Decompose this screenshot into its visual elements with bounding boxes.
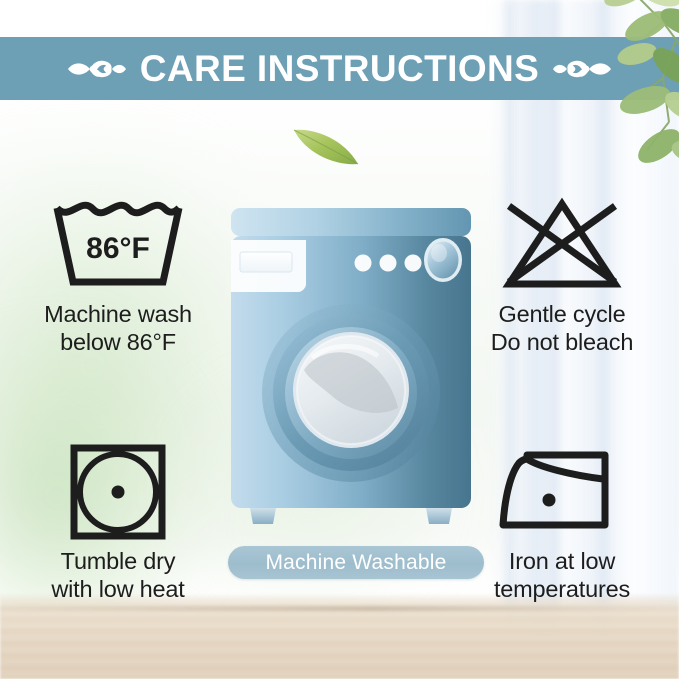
table-wood-grain xyxy=(0,611,679,679)
header-banner: CARE INSTRUCTIONS xyxy=(0,37,679,100)
fleur-de-lis-icon-left xyxy=(60,44,130,94)
care-symbol-tumble-dry: Tumble dry with low heat xyxy=(8,443,228,603)
status-badge-machine-washable: Machine Washable xyxy=(228,546,484,579)
caption-line-2: with low heat xyxy=(8,575,228,603)
care-symbol-iron: Iron at low temperatures xyxy=(452,443,672,603)
caption-line-1: Gentle cycle xyxy=(452,300,672,328)
page-title: CARE INSTRUCTIONS xyxy=(140,48,539,90)
caption-line-1: Machine wash xyxy=(8,300,228,328)
caption-iron: Iron at low temperatures xyxy=(452,547,672,603)
caption-line-1: Tumble dry xyxy=(8,547,228,575)
caption-machine-wash: Machine wash below 86°F xyxy=(8,300,228,356)
wash-tub-icon: 86°F xyxy=(8,196,228,294)
triangle-crossed-out-icon xyxy=(452,196,672,294)
badge-label: Machine Washable xyxy=(265,551,446,575)
caption-no-bleach: Gentle cycle Do not bleach xyxy=(452,300,672,356)
tumble-dry-low-icon xyxy=(8,443,228,541)
care-symbol-no-bleach: Gentle cycle Do not bleach xyxy=(452,196,672,356)
table-edge-line xyxy=(0,606,679,611)
wash-temperature-value: 86°F xyxy=(86,232,150,265)
washing-machine-icon xyxy=(228,208,474,538)
caption-line-1: Iron at low xyxy=(452,547,672,575)
falling-leaf-icon xyxy=(290,120,364,172)
caption-tumble-dry: Tumble dry with low heat xyxy=(8,547,228,603)
caption-line-2: temperatures xyxy=(452,575,672,603)
care-symbol-machine-wash: 86°F Machine wash below 86°F xyxy=(8,196,228,356)
fleur-de-lis-icon-right xyxy=(549,44,619,94)
care-instructions-infographic: CARE INSTRUCTIONS 86°F Machine w xyxy=(0,0,679,679)
iron-low-heat-icon xyxy=(452,443,672,541)
caption-line-2: below 86°F xyxy=(8,328,228,356)
caption-line-2: Do not bleach xyxy=(452,328,672,356)
